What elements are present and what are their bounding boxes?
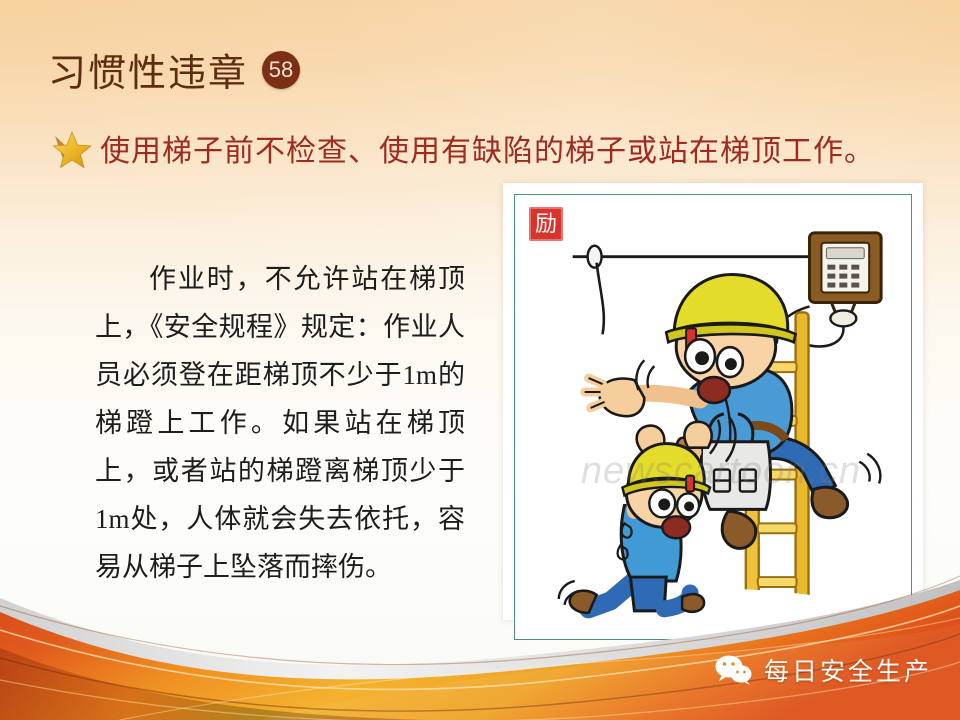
wechat-icon [714, 655, 754, 685]
illustration-panel: 励 [503, 183, 923, 620]
status-badge: 58 [262, 51, 300, 89]
wechat-account-badge: 每日安全生产 [714, 652, 932, 688]
slide-title-row: 习惯性违章 58 [48, 42, 300, 97]
subtitle-text: 使用梯子前不检查、使用有缺陷的梯子或站在梯顶工作。 [100, 126, 875, 170]
cartoon-illustration [515, 195, 911, 640]
slide-canvas: 习惯性违章 58 使用梯子前不检查、使用有缺陷的梯子或站在梯顶工作。 作业时，不… [0, 0, 960, 720]
star-icon [48, 126, 94, 170]
wechat-account-name: 每日安全生产 [764, 652, 932, 688]
body-paragraph: 作业时，不允许站在梯顶上，《安全规程》规定：作业人员必须登在距梯顶不少于1m的梯… [95, 255, 465, 591]
panel-inner-border: 励 [514, 194, 912, 640]
subtitle-row: 使用梯子前不检查、使用有缺陷的梯子或站在梯顶工作。 [48, 126, 948, 170]
page-title: 习惯性违章 [48, 42, 248, 97]
